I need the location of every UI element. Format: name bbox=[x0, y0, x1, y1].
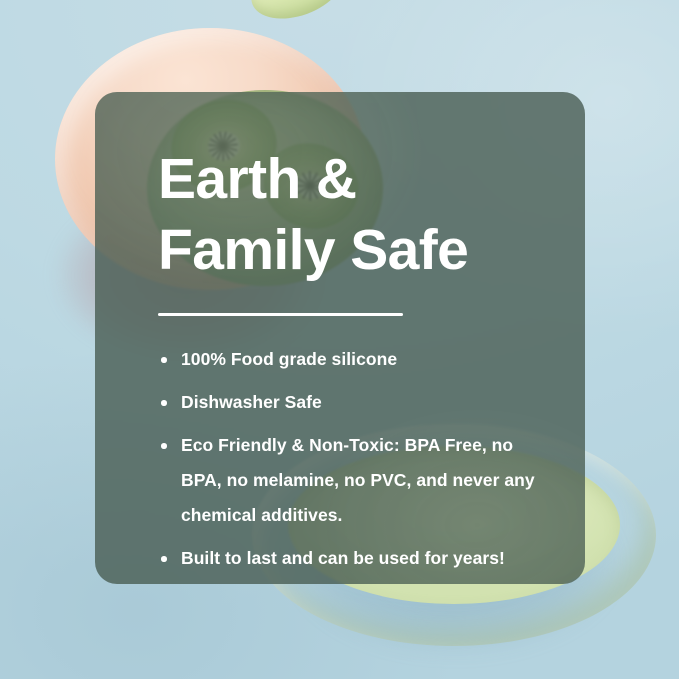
list-item: Dishwasher Safe bbox=[158, 385, 539, 420]
feature-list: 100% Food grade silicone Dishwasher Safe… bbox=[158, 342, 539, 576]
list-item: Eco Friendly & Non-Toxic: BPA Free, no B… bbox=[158, 428, 539, 533]
divider-rule bbox=[158, 313, 403, 316]
headline: Earth & Family Safe bbox=[158, 144, 539, 286]
info-card: Earth & Family Safe 100% Food grade sili… bbox=[95, 92, 585, 584]
list-item: Built to last and can be used for years! bbox=[158, 541, 539, 576]
product-feature-image: Earth & Family Safe 100% Food grade sili… bbox=[0, 0, 679, 679]
list-item: 100% Food grade silicone bbox=[158, 342, 539, 377]
